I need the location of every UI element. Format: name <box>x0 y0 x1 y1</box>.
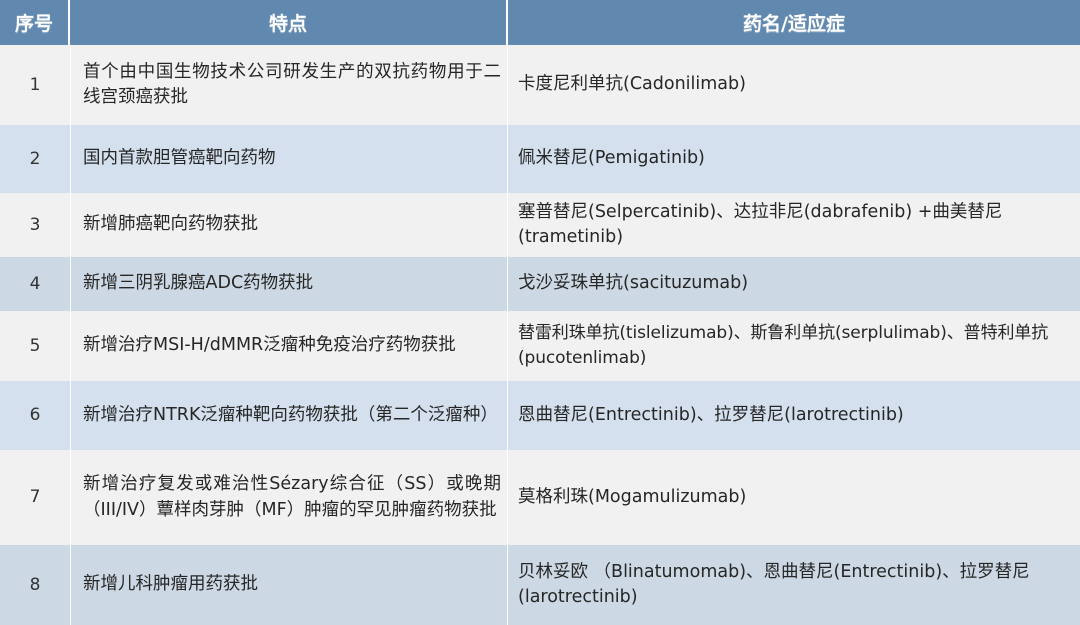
row-drug-cell: 塞普替尼(Selpercatinib)、达拉非尼(dabrafenib) +曲美… <box>508 193 1080 257</box>
row-drug-text: 佩米替尼(Pemigatinib) <box>518 146 1072 171</box>
row-feature-text: 首个由中国生物技术公司研发生产的双抗药物用于二线宫颈癌获批 <box>83 60 501 111</box>
column-header-feature-label: 特点 <box>70 9 506 36</box>
row-drug-text: 替雷利珠单抗(tislelizumab)、斯鲁利单抗(serplulimab)、… <box>518 321 1072 370</box>
row-index-cell: 3 <box>0 193 70 257</box>
row-index-label: 4 <box>0 272 70 297</box>
column-header-drug-label: 药名/适应症 <box>508 9 1080 36</box>
row-drug-cell: 佩米替尼(Pemigatinib) <box>508 125 1080 193</box>
column-header-drug: 药名/适应症 <box>508 0 1080 45</box>
table-header-row: 序号 特点 药名/适应症 <box>0 0 1080 45</box>
row-index-cell: 1 <box>0 45 70 125</box>
table-row: 1 首个由中国生物技术公司研发生产的双抗药物用于二线宫颈癌获批 卡度尼利单抗(C… <box>0 45 1080 125</box>
row-index-cell: 5 <box>0 311 70 381</box>
row-index-label: 8 <box>0 573 70 598</box>
row-drug-cell: 莫格利珠(Mogamulizumab) <box>508 450 1080 545</box>
row-feature-cell: 新增治疗MSI-H/dMMR泛瘤种免疫治疗药物获批 <box>70 311 508 381</box>
row-index-label: 5 <box>0 334 70 359</box>
table-row: 7 新增治疗复发或难治性Sézary综合征（SS）或晚期（III/IV）蕈样肉芽… <box>0 450 1080 545</box>
table-row: 5 新增治疗MSI-H/dMMR泛瘤种免疫治疗药物获批 替雷利珠单抗(tisle… <box>0 311 1080 381</box>
row-index-cell: 4 <box>0 257 70 311</box>
row-feature-text: 新增三阴乳腺癌ADC药物获批 <box>83 271 501 296</box>
row-feature-cell: 新增肺癌靶向药物获批 <box>70 193 508 257</box>
row-drug-text: 卡度尼利单抗(Cadonilimab) <box>518 72 1072 97</box>
row-index-label: 1 <box>0 73 70 98</box>
row-feature-cell: 新增三阴乳腺癌ADC药物获批 <box>70 257 508 311</box>
row-drug-cell: 贝林妥欧 （Blinatumomab)、恩曲替尼(Entrectinib)、拉罗… <box>508 545 1080 625</box>
row-drug-text: 莫格利珠(Mogamulizumab) <box>518 485 1072 510</box>
row-drug-cell: 替雷利珠单抗(tislelizumab)、斯鲁利单抗(serplulimab)、… <box>508 311 1080 381</box>
row-feature-text: 国内首款胆管癌靶向药物 <box>83 146 501 171</box>
row-index-label: 3 <box>0 213 70 238</box>
table-row: 6 新增治疗NTRK泛瘤种靶向药物获批（第二个泛瘤种） 恩曲替尼(Entrect… <box>0 381 1080 450</box>
column-header-index: 序号 <box>0 0 70 45</box>
row-feature-cell: 新增儿科肿瘤用药获批 <box>70 545 508 625</box>
table-row: 3 新增肺癌靶向药物获批 塞普替尼(Selpercatinib)、达拉非尼(da… <box>0 193 1080 257</box>
row-drug-cell: 戈沙妥珠单抗(sacituzumab) <box>508 257 1080 311</box>
row-index-label: 2 <box>0 147 70 172</box>
row-drug-cell: 恩曲替尼(Entrectinib)、拉罗替尼(larotrectinib) <box>508 381 1080 450</box>
row-index-cell: 6 <box>0 381 70 450</box>
column-header-index-label: 序号 <box>0 9 68 36</box>
row-index-label: 6 <box>0 403 70 428</box>
row-drug-text: 戈沙妥珠单抗(sacituzumab) <box>518 271 1072 296</box>
row-index-cell: 7 <box>0 450 70 545</box>
row-feature-cell: 新增治疗复发或难治性Sézary综合征（SS）或晚期（III/IV）蕈样肉芽肿（… <box>70 450 508 545</box>
row-feature-text: 新增肺癌靶向药物获批 <box>83 212 501 237</box>
row-drug-cell: 卡度尼利单抗(Cadonilimab) <box>508 45 1080 125</box>
row-drug-text: 塞普替尼(Selpercatinib)、达拉非尼(dabrafenib) +曲美… <box>518 200 1072 251</box>
row-index-label: 7 <box>0 485 70 510</box>
column-header-feature: 特点 <box>70 0 508 45</box>
row-feature-text: 新增治疗MSI-H/dMMR泛瘤种免疫治疗药物获批 <box>83 333 501 358</box>
row-feature-cell: 新增治疗NTRK泛瘤种靶向药物获批（第二个泛瘤种） <box>70 381 508 450</box>
row-index-cell: 8 <box>0 545 70 625</box>
row-feature-text: 新增治疗复发或难治性Sézary综合征（SS）或晚期（III/IV）蕈样肉芽肿（… <box>83 472 501 523</box>
row-feature-text: 新增儿科肿瘤用药获批 <box>83 572 501 597</box>
table-row: 4 新增三阴乳腺癌ADC药物获批 戈沙妥珠单抗(sacituzumab) <box>0 257 1080 311</box>
row-index-cell: 2 <box>0 125 70 193</box>
table-row: 8 新增儿科肿瘤用药获批 贝林妥欧 （Blinatumomab)、恩曲替尼(En… <box>0 545 1080 625</box>
row-drug-text: 恩曲替尼(Entrectinib)、拉罗替尼(larotrectinib) <box>518 403 1072 428</box>
table-row: 2 国内首款胆管癌靶向药物 佩米替尼(Pemigatinib) <box>0 125 1080 193</box>
row-feature-cell: 国内首款胆管癌靶向药物 <box>70 125 508 193</box>
row-drug-text: 贝林妥欧 （Blinatumomab)、恩曲替尼(Entrectinib)、拉罗… <box>518 560 1072 611</box>
row-feature-cell: 首个由中国生物技术公司研发生产的双抗药物用于二线宫颈癌获批 <box>70 45 508 125</box>
data-table: 序号 特点 药名/适应症 1 首个由中国生物技术公司研发生产的双抗药物用于二线宫… <box>0 0 1080 625</box>
row-feature-text: 新增治疗NTRK泛瘤种靶向药物获批（第二个泛瘤种） <box>83 403 501 428</box>
